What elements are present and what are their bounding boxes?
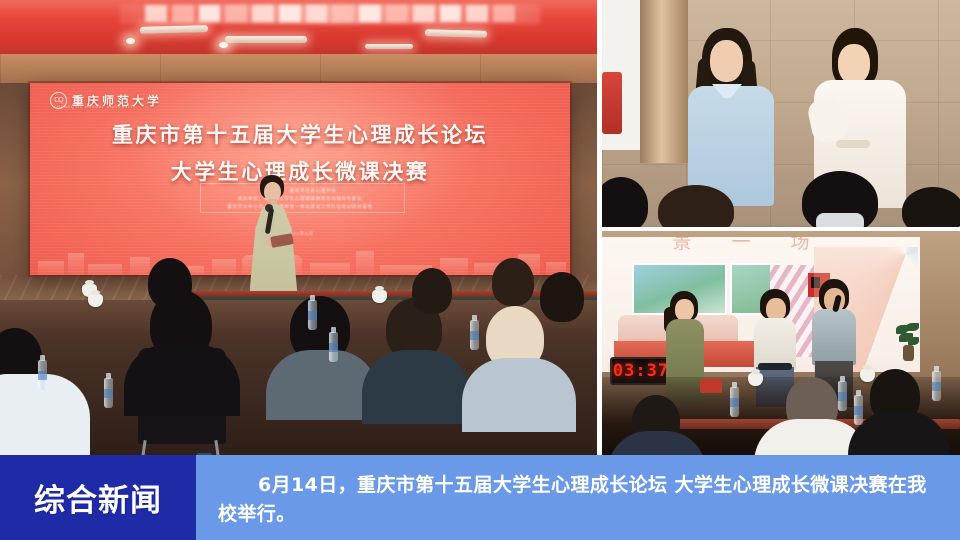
water-bottle: [932, 371, 941, 401]
red-banner-edge: [602, 72, 622, 134]
tea-cup: [88, 294, 103, 307]
water-bottle: [470, 320, 479, 350]
potted-plant: [894, 323, 922, 363]
seated-head: [540, 272, 584, 322]
tea-cup: [372, 290, 387, 303]
water-bottle: [854, 395, 863, 425]
ceiling-light: [365, 44, 413, 49]
ceiling-light: [225, 36, 307, 43]
water-bottle: [730, 387, 739, 417]
presenter-face: [675, 299, 694, 321]
audience-shoulders: [848, 411, 950, 455]
audience-head: [902, 187, 960, 227]
caption-text: 6月14日，重庆市第十五届大学生心理成长论坛 大学生心理成长微课决赛在我校举行。: [218, 471, 944, 529]
seated-head: [148, 258, 192, 308]
foreground-audience: [602, 165, 960, 227]
audience-head: [658, 185, 734, 227]
audience-foreground: [602, 377, 960, 455]
main-hall-photo: CQ 重庆师范大学 CHONGQING NORMAL UNIVERSITY 重庆…: [0, 0, 597, 455]
ceiling-spotlight: [126, 38, 135, 44]
hall-ceiling: [0, 0, 597, 62]
photo-collage: CQ 重庆师范大学 CHONGQING NORMAL UNIVERSITY 重庆…: [0, 0, 960, 455]
tea-cup: [748, 373, 763, 386]
audience-head: [602, 177, 648, 227]
water-bottle: [104, 378, 113, 408]
slide-title-line1: 重庆市第十五届大学生心理成长论坛: [30, 119, 570, 149]
wall-pillar: [640, 0, 688, 163]
water-bottle: [838, 381, 847, 411]
guitarist-face: [710, 40, 743, 82]
water-bottle: [329, 332, 338, 362]
presenter-top: [812, 309, 856, 365]
news-caption-bar: 综合新闻 6月14日，重庆市第十五届大学生心理成长论坛 大学生心理成长微课决赛在…: [0, 455, 960, 540]
water-bottle: [38, 360, 47, 390]
red-desk-sign: [700, 379, 722, 393]
presenter-belt: [758, 363, 792, 370]
seated-head: [492, 258, 534, 306]
audience-foreground: [0, 300, 597, 455]
seated-head: [412, 268, 452, 314]
ceiling-light: [425, 29, 487, 38]
face-mask-icon: [816, 213, 864, 227]
ceiling-spotlight: [219, 42, 228, 48]
university-logo: CQ 重庆师范大学: [50, 92, 162, 109]
tea-cup: [860, 369, 875, 382]
audience-shoulders: [362, 350, 470, 424]
student-waist-tie: [836, 140, 870, 148]
category-label: 综合新闻: [34, 475, 162, 520]
audience-shoulders: [124, 344, 240, 416]
bottom-right-microlesson-photo: 景一场 03:37: [602, 231, 960, 455]
top-right-performance-photo: ★ ★ ★ ★ ★ 防 空 洞 的 前: [602, 0, 960, 227]
university-seal-icon: CQ: [50, 92, 67, 109]
venue-led-banner-text: [145, 5, 515, 22]
news-collage-page: CQ 重庆师范大学 CHONGQING NORMAL UNIVERSITY 重庆…: [0, 0, 960, 540]
student-face: [838, 44, 870, 84]
audience-shoulders: [462, 358, 576, 432]
caption-body: 6月14日，重庆市第十五届大学生心理成长论坛 大学生心理成长微课决赛在我校举行。: [196, 455, 960, 540]
ceiling-light: [140, 25, 208, 34]
university-name-en: CHONGQING NORMAL UNIVERSITY: [54, 105, 136, 109]
water-bottle: [308, 300, 317, 330]
university-name-cn: 重庆师范大学: [72, 92, 162, 109]
audience-shoulders: [608, 431, 706, 455]
category-badge: 综合新闻: [0, 455, 196, 540]
